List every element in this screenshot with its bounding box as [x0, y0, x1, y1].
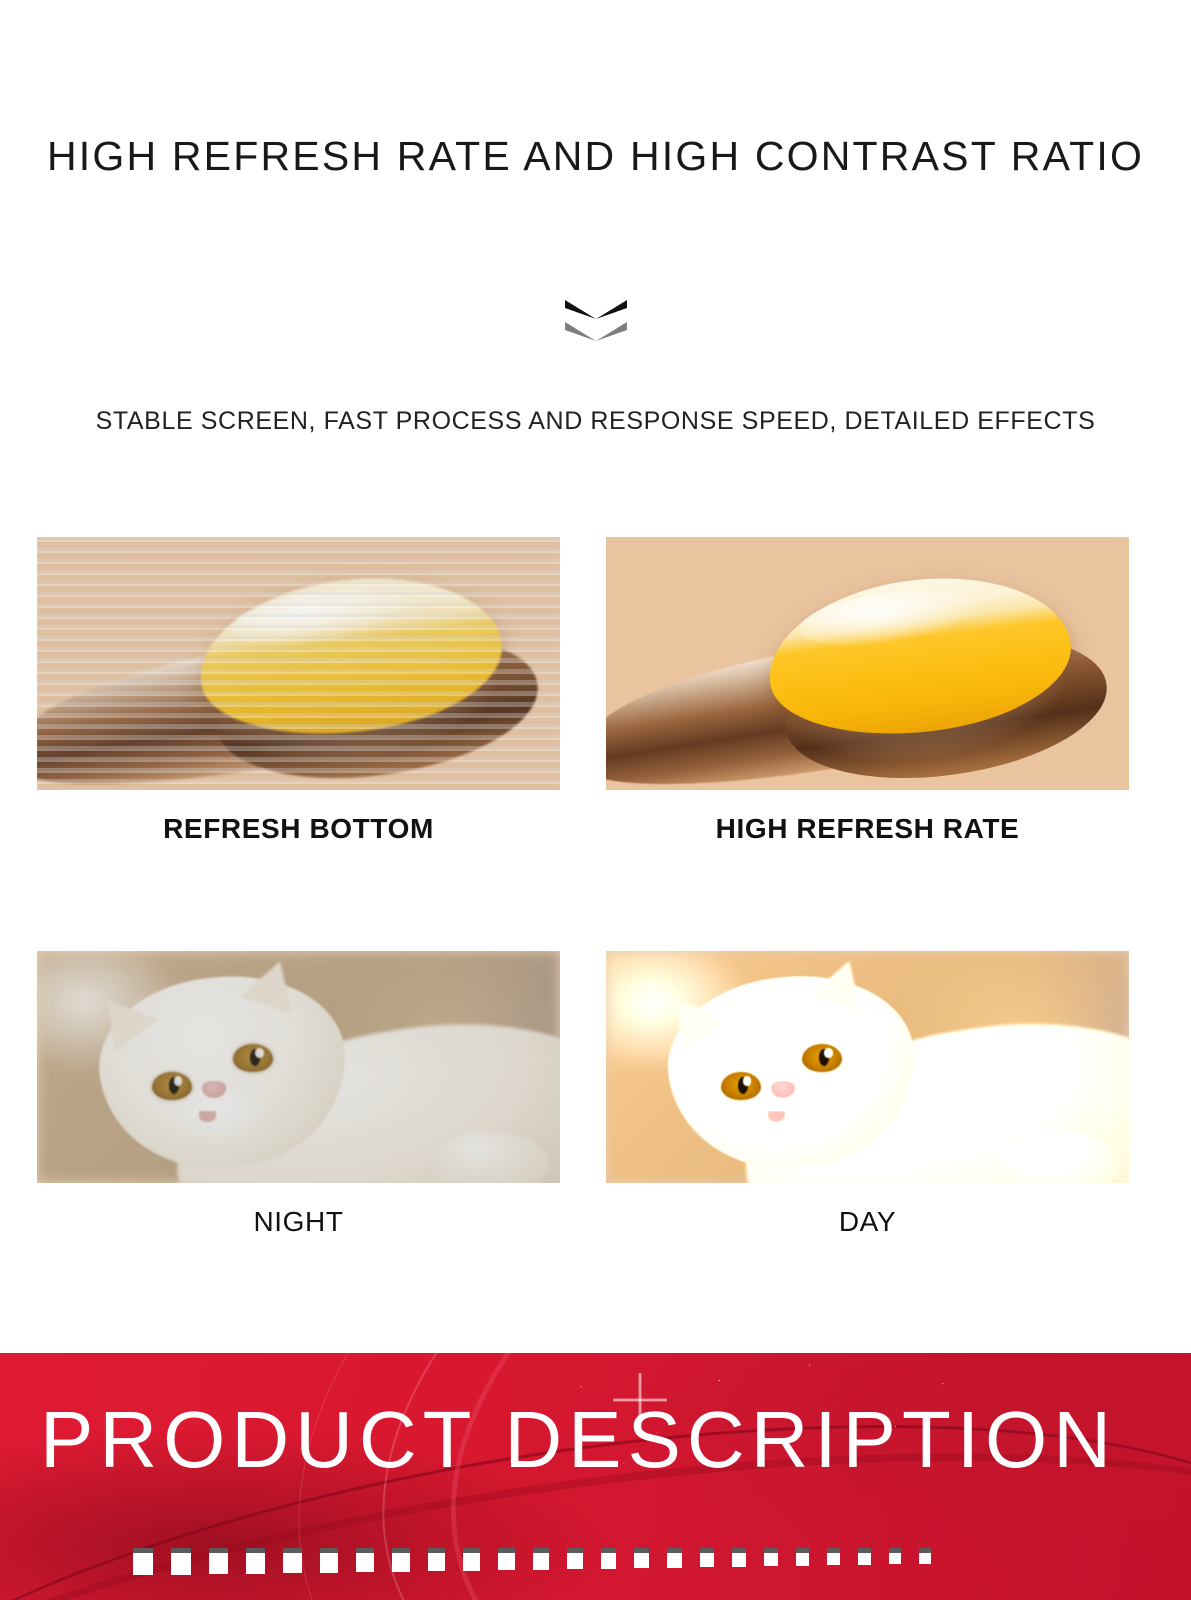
banner-tick — [667, 1548, 682, 1568]
image-refresh-bottom — [37, 537, 560, 790]
banner-tick — [392, 1548, 410, 1572]
banner-title: PRODUCT DESCRIPTION — [40, 1400, 1117, 1480]
banner-tick — [246, 1548, 265, 1574]
banner-tick — [700, 1548, 714, 1567]
image-day — [606, 951, 1129, 1183]
banner-tick — [732, 1548, 746, 1567]
comparison-cell-day: DAY — [606, 951, 1129, 1238]
cat-nose — [771, 1081, 795, 1098]
banner-tick — [133, 1548, 153, 1575]
cat-eye-left — [152, 1072, 192, 1100]
cat-eye-left — [721, 1072, 761, 1100]
banner-tick — [209, 1548, 228, 1574]
banner-tick — [320, 1548, 338, 1573]
caption-night: NIGHT — [37, 1206, 560, 1238]
cat-eye-glint — [255, 1048, 264, 1058]
page-subtitle: STABLE SCREEN, FAST PROCESS AND RESPONSE… — [0, 407, 1191, 436]
cat-illustration — [37, 951, 560, 1183]
comparison-row-contrast: NIGHT — [37, 951, 1154, 1238]
cat-nose — [202, 1081, 226, 1098]
banner-tick — [171, 1548, 191, 1575]
cat-eye-glint — [824, 1048, 833, 1058]
chevron-down-icon — [565, 300, 627, 319]
banner-tick — [889, 1548, 901, 1564]
image-night — [37, 951, 560, 1183]
comparison-cell-high-refresh-rate: HIGH REFRESH RATE — [606, 537, 1129, 845]
banner-tick — [533, 1548, 549, 1570]
egg-on-spoon-illustration — [606, 537, 1129, 790]
banner-tick — [796, 1548, 809, 1566]
comparison-row-refresh: REFRESH BOTTOM HIGH REFRESH RATE — [37, 537, 1154, 845]
product-feature-page: HIGH REFRESH RATE AND HIGH CONTRAST RATI… — [0, 0, 1191, 1600]
banner-tick — [498, 1548, 515, 1570]
banner-tick — [764, 1548, 778, 1566]
banner-tick — [567, 1548, 583, 1569]
page-title: HIGH REFRESH RATE AND HIGH CONTRAST RATI… — [0, 133, 1191, 180]
cat-eye-glint — [174, 1076, 183, 1086]
banner-tick — [428, 1548, 445, 1571]
caption-high-refresh-rate: HIGH REFRESH RATE — [606, 813, 1129, 845]
banner-tick — [827, 1548, 840, 1565]
banner-tick — [919, 1548, 931, 1564]
caption-day: DAY — [606, 1206, 1129, 1238]
banner-tick — [356, 1548, 374, 1572]
cat-eye-right — [233, 1044, 273, 1072]
banner-tick — [283, 1548, 302, 1573]
scanline-overlay-dark — [37, 537, 560, 790]
cat-eye-right — [802, 1044, 842, 1072]
banner-tick — [634, 1548, 649, 1568]
comparison-cell-refresh-bottom: REFRESH BOTTOM — [37, 537, 560, 845]
banner-tick — [858, 1548, 871, 1565]
section-divider — [0, 300, 1191, 341]
comparison-cell-night: NIGHT — [37, 951, 560, 1238]
comparison-grid: REFRESH BOTTOM HIGH REFRESH RATE — [37, 537, 1154, 1238]
banner-tick — [463, 1548, 480, 1571]
cat-eye-glint — [743, 1076, 752, 1086]
banner-tick-row — [133, 1548, 931, 1575]
banner-tick — [601, 1548, 616, 1569]
image-high-refresh-rate — [606, 537, 1129, 790]
chevron-down-icon — [565, 322, 627, 341]
cat-illustration — [606, 951, 1129, 1183]
caption-refresh-bottom: REFRESH BOTTOM — [37, 813, 560, 845]
